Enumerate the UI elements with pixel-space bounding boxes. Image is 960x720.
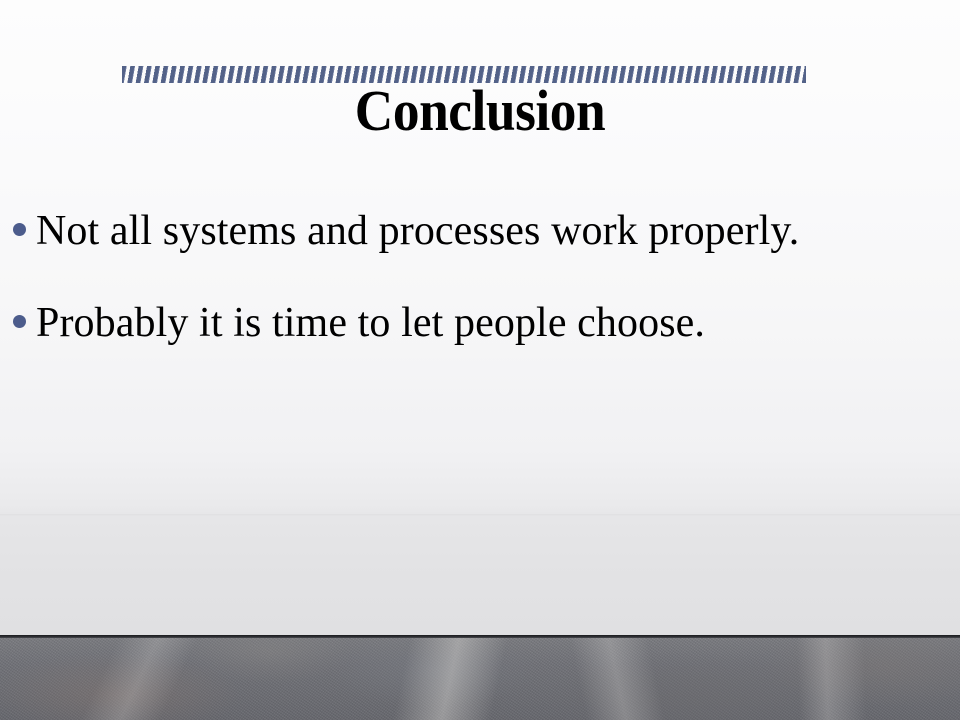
bottom-band-edge-line — [0, 635, 960, 638]
background-seam — [0, 514, 960, 516]
slide-title: Conclusion — [38, 80, 921, 142]
slide-canvas: Conclusion Not all systems and processes… — [0, 0, 960, 720]
bullet-item-label: Not all systems and processes work prope… — [36, 196, 940, 266]
bullet-item-label: Probably it is time to let people choose… — [36, 288, 940, 358]
bullet-list: Not all systems and processes work prope… — [10, 196, 940, 358]
list-item: Not all systems and processes work prope… — [10, 196, 940, 266]
list-item: Probably it is time to let people choose… — [10, 288, 940, 358]
bullet-marker-icon — [13, 315, 26, 328]
bullet-marker-icon — [13, 223, 26, 236]
bottom-stone-band — [0, 635, 960, 720]
